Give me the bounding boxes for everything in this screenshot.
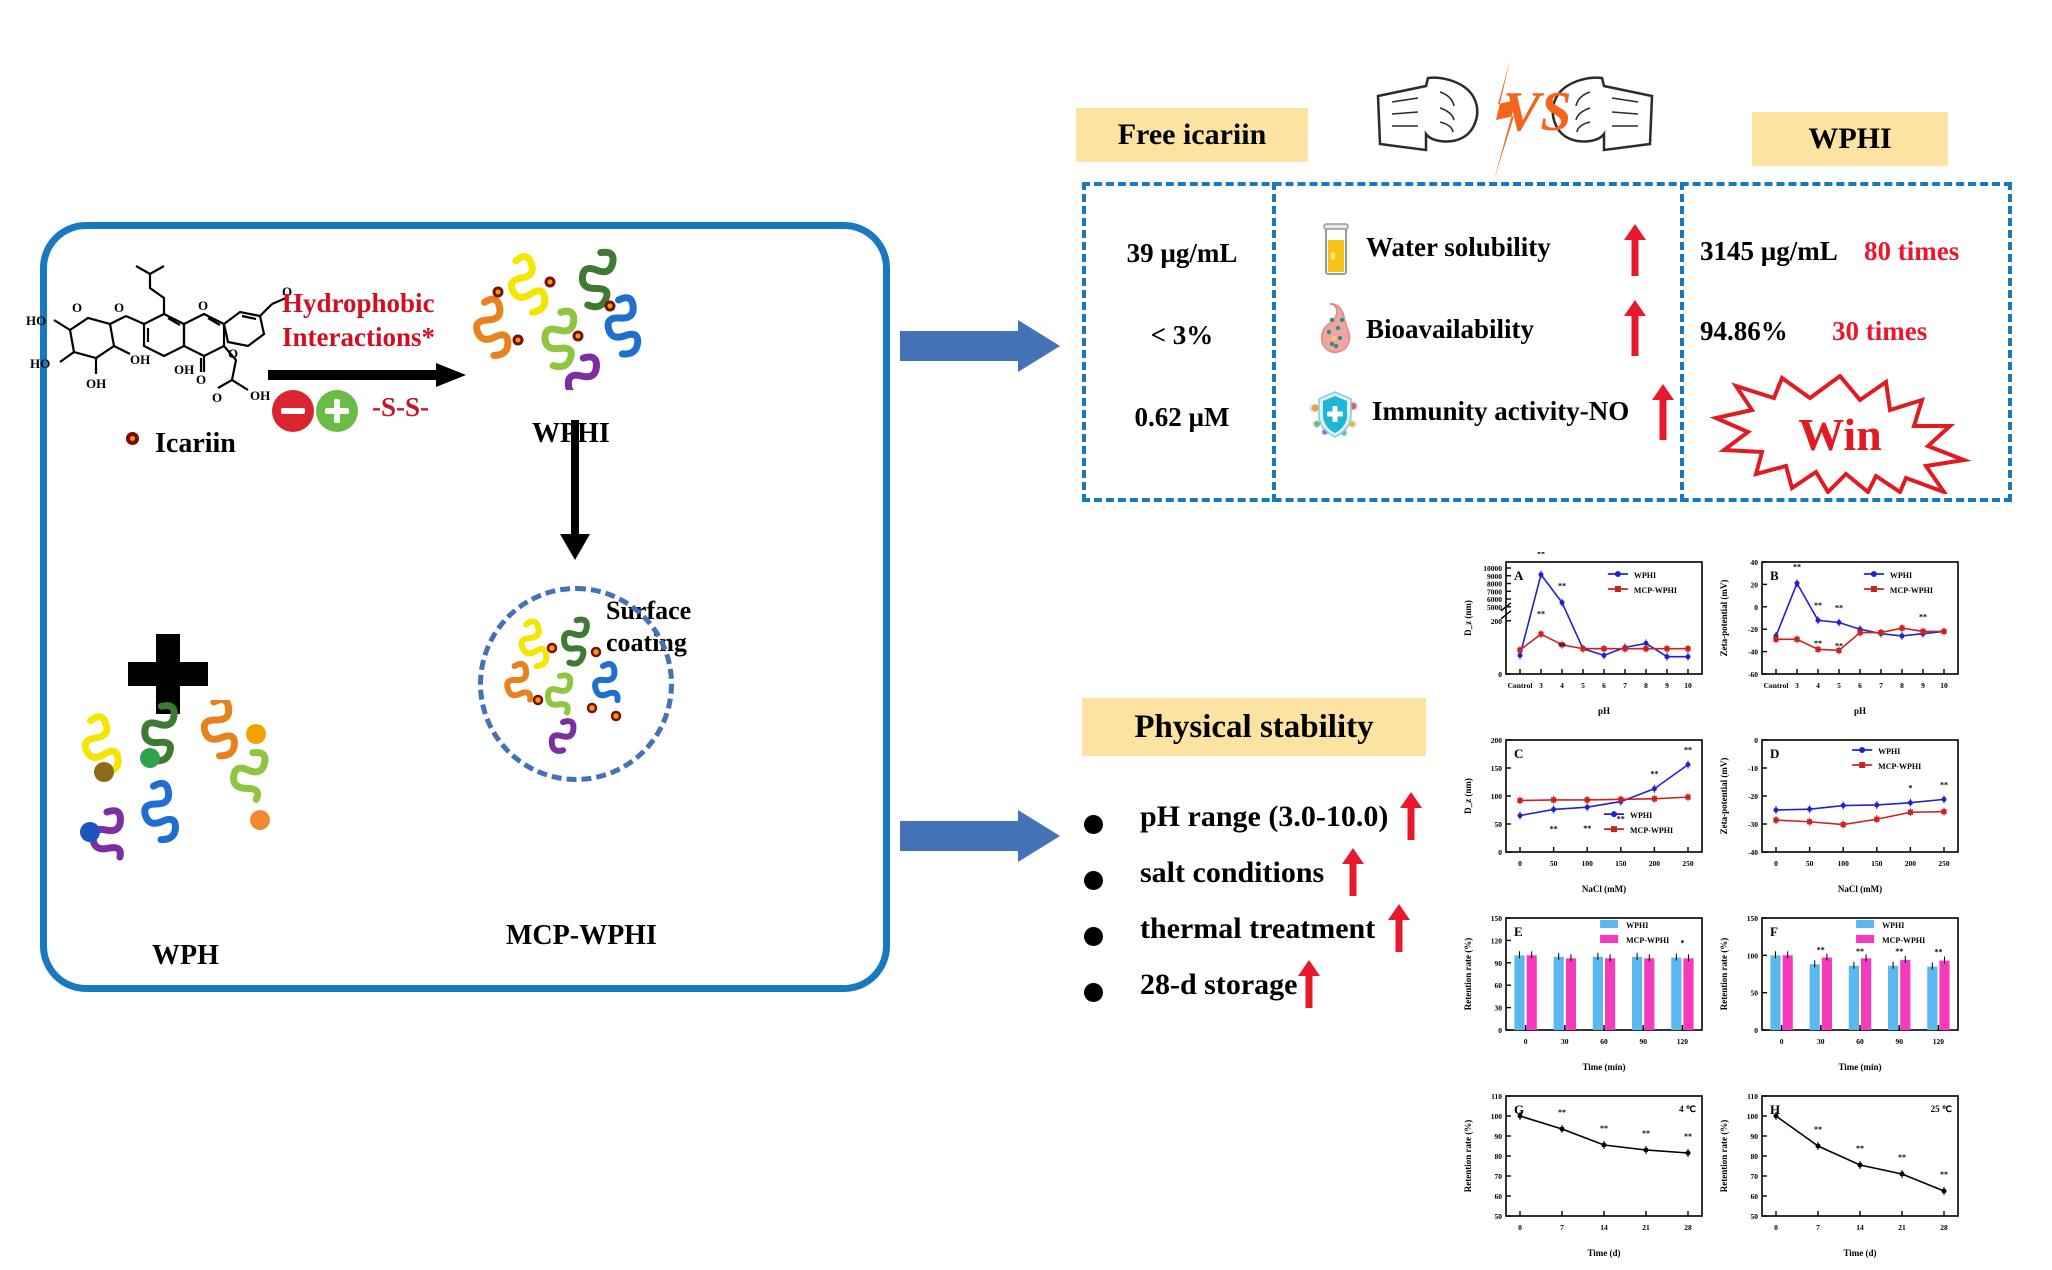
- negative-charge-icon: [272, 390, 314, 432]
- x-tick-label: 250: [1682, 859, 1694, 868]
- y-tick-label: 0: [1754, 1026, 1758, 1035]
- bar-WPHI: [1888, 966, 1898, 1030]
- x-tick-label: 4: [1560, 681, 1564, 690]
- significance-marker: **: [1537, 610, 1545, 619]
- x-tick-label: 6: [1602, 681, 1606, 690]
- y-tick-label: 70: [1751, 1172, 1759, 1181]
- stability-trend-2-icon: [1342, 848, 1364, 896]
- y-tick-label: 100: [1747, 951, 1759, 960]
- y-tick-label: 150: [1491, 914, 1503, 923]
- significance-marker: **: [1934, 948, 1942, 957]
- svg-text:O: O: [196, 372, 206, 387]
- y-tick-label: 0: [1498, 670, 1502, 679]
- stability-label-2: salt conditions: [1140, 856, 1324, 890]
- significance-marker: **: [1835, 641, 1843, 650]
- plot-frame: [1762, 562, 1958, 674]
- y-tick-label: 60: [1495, 1192, 1503, 1201]
- legend-label: WPHI: [1882, 921, 1904, 930]
- x-tick-label: 28: [1684, 1223, 1692, 1232]
- legend-label: MCP-WPHI: [1630, 826, 1673, 835]
- svg-text:O: O: [212, 390, 222, 405]
- x-axis-label: Time (min): [1582, 1062, 1625, 1072]
- x-axis-label: pH: [1598, 706, 1610, 716]
- y-axis-label: Zeta-potential (mV): [1719, 580, 1729, 657]
- x-tick-label: 5: [1581, 681, 1585, 690]
- y-tick-label: 80: [1495, 1152, 1503, 1161]
- row2-free-value: < 3%: [1102, 320, 1262, 351]
- y-tick-label: 150: [1491, 764, 1503, 773]
- free-icariin-title: Free icariin: [1076, 108, 1308, 162]
- panel-letter-C: C: [1514, 746, 1523, 761]
- x-tick-label: 60: [1856, 1037, 1864, 1046]
- x-tick-label: 120: [1677, 1037, 1689, 1046]
- legend-swatch: [1600, 935, 1618, 943]
- y-tick-label: 110: [1747, 1092, 1758, 1101]
- x-axis-label: Time (d): [1587, 1248, 1620, 1258]
- x-tick-label: 10: [1684, 681, 1692, 690]
- stability-trend-3-icon: [1388, 904, 1410, 952]
- x-tick-label: 3: [1539, 681, 1543, 690]
- y-tick-label: 100: [1491, 792, 1503, 801]
- significance-marker: **: [1684, 1132, 1692, 1141]
- versus-fists-icon: VS: [1370, 60, 1660, 180]
- legend-label: WPHI: [1630, 811, 1652, 820]
- bullet-icon-4: [1084, 983, 1103, 1002]
- y-tick-label: 200: [1491, 617, 1503, 626]
- legend-label: MCP-WPHI: [1626, 936, 1669, 945]
- bar-MCP-WPHI: [1683, 958, 1693, 1030]
- panel-letter-E: E: [1514, 924, 1523, 939]
- significance-marker: **: [1600, 1124, 1608, 1133]
- mcp-wphi-coil-cluster: [500, 604, 660, 764]
- x-tick-label: 9: [1921, 681, 1925, 690]
- bar-WPHI: [1671, 958, 1681, 1030]
- row1-wphi-value: 3145 µg/mL: [1700, 236, 1838, 267]
- row1-wphi-fold: 80 times: [1864, 236, 1959, 267]
- row3-trend-up-icon: [1652, 384, 1674, 440]
- bar-WPHI: [1810, 964, 1820, 1030]
- bar-WPHI: [1593, 957, 1603, 1030]
- y-tick-label: 100: [1491, 1112, 1503, 1121]
- y-axis-label: Retention rate (%): [1463, 1120, 1473, 1192]
- significance-marker: **: [1550, 824, 1558, 833]
- x-tick-label: 8: [1900, 681, 1904, 690]
- bar-WPHI: [1514, 955, 1524, 1030]
- significance-marker: **: [1537, 552, 1545, 559]
- x-tick-label: 7: [1879, 681, 1883, 690]
- vs-text: VS: [1503, 81, 1572, 143]
- x-axis-label: pH: [1854, 706, 1866, 716]
- chart-panel-A: A50006000700080009000100000200Control345…: [1460, 552, 1712, 720]
- row2-wphi-fold: 30 times: [1832, 316, 1927, 347]
- significance-marker: **: [1940, 1170, 1948, 1179]
- bar-WPHI: [1927, 967, 1937, 1030]
- svg-text:HO: HO: [30, 356, 50, 371]
- legend-marker: [1611, 826, 1617, 832]
- x-tick-label: 60: [1600, 1037, 1608, 1046]
- y-tick-label: 0: [1754, 603, 1758, 612]
- legend-label: WPHI: [1626, 921, 1648, 930]
- y-tick-label: 5000: [1487, 603, 1502, 612]
- y-tick-label: 110: [1491, 1092, 1502, 1101]
- chart-panel-C: C050100150200050100150200250NaCl (mM)D_z…: [1460, 730, 1712, 898]
- y-tick-label: 150: [1747, 914, 1759, 923]
- svg-text:OH: OH: [130, 352, 150, 367]
- x-tick-label: 90: [1895, 1037, 1903, 1046]
- win-starburst-badge: Win: [1700, 374, 1980, 494]
- x-tick-label: 6: [1858, 681, 1862, 690]
- stability-label-1: pH range (3.0-10.0): [1140, 800, 1388, 834]
- row1-trend-up-icon: [1624, 224, 1646, 276]
- beaker-icon: [1318, 222, 1354, 278]
- row1-free-value: 39 µg/mL: [1102, 238, 1262, 269]
- significance-marker: **: [1793, 562, 1801, 571]
- bullet-icon-1: [1084, 815, 1103, 834]
- bar-WPHI: [1849, 966, 1859, 1030]
- x-tick-label: 7: [1816, 1223, 1820, 1232]
- legend-marker: [1859, 762, 1865, 768]
- y-tick-label: 7000: [1487, 587, 1502, 596]
- x-tick-label: 250: [1938, 859, 1950, 868]
- bar-MCP-WPHI: [1861, 958, 1871, 1030]
- stomach-icon: [1314, 302, 1358, 358]
- stability-label-3: thermal treatment: [1140, 912, 1375, 946]
- bar-MCP-WPHI: [1644, 958, 1654, 1030]
- comparison-divider-2: [1680, 182, 1684, 502]
- significance-marker: **: [1856, 947, 1864, 956]
- bar-MCP-WPHI: [1822, 958, 1832, 1030]
- significance-marker: **: [1814, 601, 1822, 610]
- x-axis-label: Time (d): [1843, 1248, 1876, 1258]
- significance-marker: **: [1558, 1108, 1566, 1117]
- legend-swatch: [1856, 935, 1874, 943]
- y-tick-label: -30: [1748, 820, 1758, 829]
- x-tick-label: 0: [1518, 859, 1522, 868]
- x-tick-label: 10: [1940, 681, 1948, 690]
- significance-marker: **: [1895, 947, 1903, 956]
- y-tick-label: -10: [1748, 764, 1758, 773]
- corner-label-H: 25 ℃: [1931, 1104, 1952, 1114]
- svg-text:O: O: [198, 298, 208, 313]
- legend-marker: [1859, 747, 1865, 753]
- significance-marker: *: [1908, 784, 1912, 793]
- bar-MCP-WPHI: [1566, 958, 1576, 1030]
- bar-MCP-WPHI: [1605, 958, 1615, 1030]
- svg-text:OH: OH: [174, 362, 194, 377]
- x-tick-label: 150: [1615, 859, 1627, 868]
- row2-wphi-value: 94.86%: [1700, 316, 1788, 347]
- legend-marker: [1615, 586, 1621, 592]
- icariin-label: Icariin: [155, 428, 236, 460]
- comparison-divider-1: [1272, 182, 1276, 502]
- legend-swatch: [1856, 920, 1874, 928]
- svg-text:OH: OH: [86, 376, 106, 391]
- significance-marker: **: [1856, 1144, 1864, 1153]
- x-tick-label: 7: [1623, 681, 1627, 690]
- y-axis-label: Retention rate (%): [1719, 938, 1729, 1010]
- y-tick-label: 10000: [1483, 564, 1502, 573]
- y-tick-label: -20: [1748, 792, 1758, 801]
- wphi-coil-cluster: [470, 240, 800, 390]
- bar-MCP-WPHI: [1527, 955, 1537, 1030]
- y-tick-label: 8000: [1487, 580, 1502, 589]
- row2-trend-up-icon: [1624, 300, 1646, 356]
- significance-marker: **: [1558, 642, 1566, 651]
- y-tick-label: 50: [1751, 989, 1759, 998]
- transform-arrow-icon: [268, 362, 468, 388]
- significance-marker: **: [1684, 746, 1692, 755]
- panel-letter-F: F: [1770, 924, 1778, 939]
- y-tick-label: 50: [1495, 820, 1503, 829]
- svg-text:HO: HO: [26, 313, 46, 328]
- x-tick-label: 0: [1774, 1223, 1778, 1232]
- y-tick-label: 60: [1495, 981, 1503, 990]
- y-axis-label: D_z (nm): [1463, 778, 1473, 814]
- x-tick-label: 21: [1642, 1223, 1650, 1232]
- x-tick-label: 30: [1561, 1037, 1569, 1046]
- legend-label: WPHI: [1878, 747, 1900, 756]
- y-tick-label: -60: [1748, 670, 1758, 679]
- chart-panel-D: D-40-30-20-100050100150200250NaCl (mM)Ze…: [1716, 730, 1968, 898]
- x-tick-label: 7: [1560, 1223, 1564, 1232]
- stability-label-4: 28-d storage: [1140, 968, 1297, 1002]
- chart-panel-E: E03060901201500306090120Time (min)Retent…: [1460, 908, 1712, 1076]
- significance-marker: *: [1680, 939, 1684, 948]
- legend-label: WPHI: [1890, 571, 1912, 580]
- svg-text:OH: OH: [250, 388, 270, 403]
- y-tick-label: 0: [1498, 848, 1502, 857]
- chart-panel-B: B-60-40-2002040Control345678910pHZeta-po…: [1716, 552, 1968, 720]
- significance-marker: **: [1583, 824, 1591, 833]
- bullet-icon-3: [1084, 927, 1103, 946]
- x-tick-label: 0: [1780, 1037, 1784, 1046]
- y-axis-label: D_z (nm): [1463, 600, 1473, 636]
- y-tick-label: 80: [1751, 1152, 1759, 1161]
- x-tick-label: 0: [1524, 1037, 1528, 1046]
- x-tick-label: 0: [1774, 859, 1778, 868]
- significance-marker: **: [1650, 770, 1658, 779]
- plot-frame: [1762, 1096, 1958, 1216]
- row2-property: Bioavailability: [1366, 314, 1534, 345]
- y-tick-label: -40: [1748, 848, 1758, 857]
- x-tick-label: 3: [1795, 681, 1799, 690]
- reaction-label-line2: Interactions*: [282, 322, 435, 353]
- plot-frame: [1762, 740, 1958, 852]
- significance-marker: **: [1898, 1153, 1906, 1162]
- legend-label: MCP-WPHI: [1882, 936, 1925, 945]
- y-tick-label: 0: [1498, 1026, 1502, 1035]
- svg-text:O: O: [72, 300, 82, 315]
- x-tick-label: 5: [1837, 681, 1841, 690]
- arrow-to-comparison: [900, 320, 1060, 372]
- surface-coating-arrow-icon: [560, 420, 590, 560]
- legend-marker: [1611, 811, 1617, 817]
- stability-trend-4-icon: [1298, 960, 1320, 1008]
- y-tick-label: 30: [1495, 1004, 1503, 1013]
- legend-label: MCP-WPHI: [1634, 586, 1677, 595]
- y-tick-label: 100: [1747, 1112, 1759, 1121]
- plot-frame: [1506, 740, 1702, 852]
- y-tick-label: 20: [1751, 580, 1759, 589]
- x-tick-label: 50: [1550, 859, 1558, 868]
- mcp-wphi-label: MCP-WPHI: [506, 920, 657, 952]
- y-tick-label: 70: [1495, 1172, 1503, 1181]
- y-axis-label: Retention rate (%): [1463, 938, 1473, 1010]
- legend-label: MCP-WPHI: [1890, 586, 1933, 595]
- bar-WPHI: [1554, 957, 1564, 1030]
- x-tick-label: 100: [1582, 859, 1594, 868]
- wph-coil-cluster: [60, 700, 390, 890]
- significance-marker: **: [1835, 603, 1843, 612]
- bar-MCP-WPHI: [1783, 955, 1793, 1030]
- arrow-to-stability: [900, 810, 1060, 862]
- row3-property: Immunity activity-NO: [1372, 396, 1629, 427]
- significance-marker: **: [1814, 1125, 1822, 1134]
- y-tick-label: 50: [1495, 1212, 1503, 1221]
- y-tick-label: 120: [1491, 936, 1503, 945]
- chart-panel-F: F0501001500306090120Time (min)Retention …: [1716, 908, 1968, 1076]
- y-tick-label: 200: [1491, 736, 1503, 745]
- y-tick-label: 60: [1751, 1192, 1759, 1201]
- svg-text:O: O: [228, 346, 238, 361]
- legend-swatch: [1600, 920, 1618, 928]
- panel-letter-A: A: [1514, 568, 1524, 583]
- wph-label: WPH: [152, 940, 219, 972]
- significance-marker: **: [1642, 1129, 1650, 1138]
- x-tick-label: 9: [1665, 681, 1669, 690]
- x-tick-label: 4: [1816, 681, 1820, 690]
- x-tick-label: 200: [1905, 859, 1917, 868]
- x-axis-label: Time (min): [1838, 1062, 1881, 1072]
- x-tick-label: 8: [1644, 681, 1648, 690]
- legend-label: WPHI: [1634, 571, 1656, 580]
- bar-WPHI: [1632, 957, 1642, 1030]
- chart-panel-G: G4 ℃506070809010011007142128Time (d)Rete…: [1460, 1086, 1712, 1262]
- win-badge-text: Win: [1798, 409, 1882, 460]
- x-tick-label: 14: [1856, 1223, 1864, 1232]
- panel-letter-B: B: [1770, 568, 1779, 583]
- corner-label-G: 4 ℃: [1679, 1104, 1696, 1114]
- significance-marker: **: [1814, 639, 1822, 648]
- significance-marker: **: [1817, 945, 1825, 954]
- x-tick-label: Control: [1764, 681, 1789, 690]
- stability-title: Physical stability: [1082, 698, 1426, 756]
- reaction-label-line1: Hydrophobic: [282, 288, 435, 319]
- y-tick-label: 90: [1495, 959, 1503, 968]
- x-tick-label: 200: [1649, 859, 1661, 868]
- legend-marker: [1871, 586, 1877, 592]
- bar-MCP-WPHI: [1900, 960, 1910, 1030]
- legend-label: MCP-WPHI: [1878, 762, 1921, 771]
- chart-panel-H: H25 ℃506070809010011007142128Time (d)Ret…: [1716, 1086, 1968, 1262]
- stability-trend-1-icon: [1400, 792, 1422, 840]
- y-tick-label: 90: [1751, 1132, 1759, 1141]
- x-tick-label: 14: [1600, 1223, 1608, 1232]
- y-tick-label: 50: [1751, 1212, 1759, 1221]
- row1-property: Water solubility: [1366, 232, 1551, 263]
- y-axis-label: Zeta-potential (mV): [1719, 758, 1729, 835]
- x-tick-label: 30: [1817, 1037, 1825, 1046]
- significance-marker: **: [1940, 780, 1948, 789]
- bar-MCP-WPHI: [1939, 961, 1949, 1030]
- y-axis-label: Retention rate (%): [1719, 1120, 1729, 1192]
- x-tick-label: Control: [1508, 681, 1533, 690]
- svg-text:O: O: [114, 300, 124, 315]
- x-tick-label: 100: [1838, 859, 1850, 868]
- x-tick-label: 50: [1806, 859, 1814, 868]
- significance-marker: **: [1558, 582, 1566, 591]
- x-tick-label: 0: [1518, 1223, 1522, 1232]
- y-tick-label: -20: [1748, 625, 1758, 634]
- wphi-title: WPHI: [1752, 112, 1948, 166]
- legend-marker: [1871, 571, 1877, 577]
- panel-letter-D: D: [1770, 746, 1779, 761]
- y-tick-label: 0: [1754, 736, 1758, 745]
- x-tick-label: 120: [1933, 1037, 1945, 1046]
- plot-frame: [1506, 1096, 1702, 1216]
- y-tick-label: 6000: [1487, 595, 1502, 604]
- y-tick-label: 40: [1751, 558, 1759, 567]
- x-axis-label: NaCl (mM): [1838, 884, 1882, 894]
- row3-free-value: 0.62 µM: [1102, 402, 1262, 433]
- x-tick-label: 90: [1639, 1037, 1647, 1046]
- y-tick-label: 9000: [1487, 572, 1502, 581]
- bar-WPHI: [1770, 955, 1780, 1030]
- significance-marker: **: [1919, 613, 1927, 622]
- shield-icon: [1306, 388, 1364, 442]
- x-tick-label: 21: [1898, 1223, 1906, 1232]
- significance-marker: **: [1617, 815, 1625, 824]
- x-axis-label: NaCl (mM): [1582, 884, 1626, 894]
- bullet-icon-2: [1084, 871, 1103, 890]
- icariin-dot-icon: [126, 432, 139, 445]
- legend-marker: [1615, 571, 1621, 577]
- y-tick-label: -40: [1748, 648, 1758, 657]
- x-tick-label: 28: [1940, 1223, 1948, 1232]
- y-tick-label: 90: [1495, 1132, 1503, 1141]
- x-tick-label: 150: [1871, 859, 1883, 868]
- disulfide-label: -S-S-: [372, 392, 429, 423]
- positive-charge-icon: [316, 390, 358, 432]
